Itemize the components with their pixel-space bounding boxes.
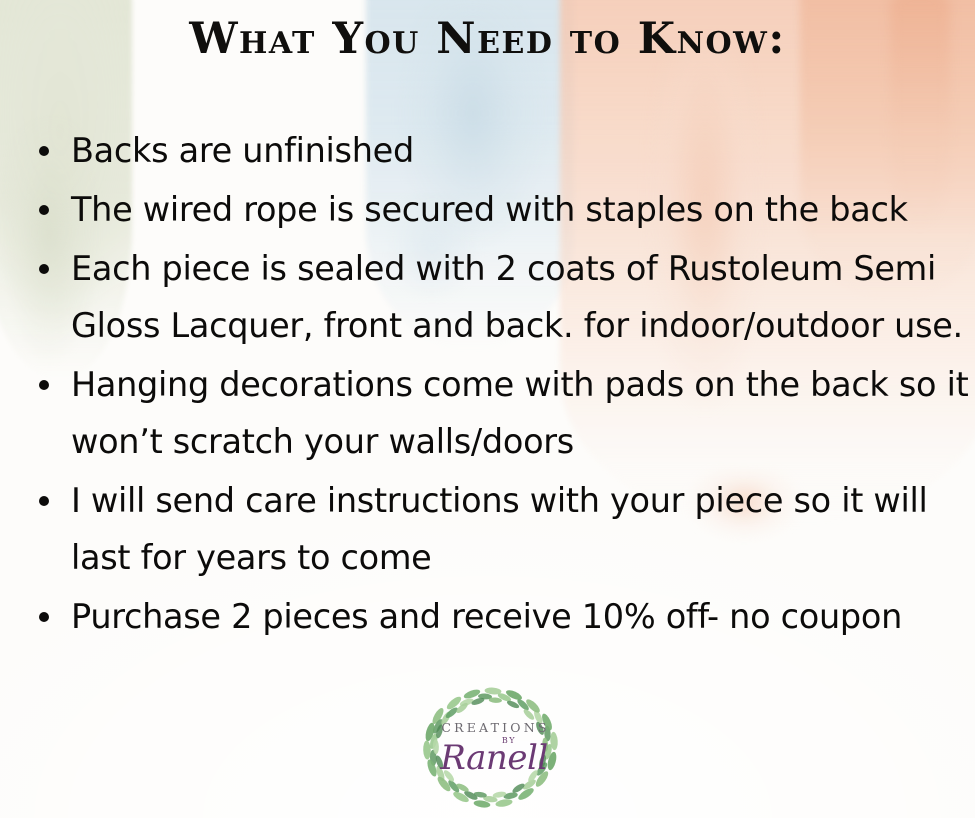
brand-logo: CREATIONS BY Ranell (408, 676, 580, 818)
list-item: Backs are unfinished (34, 122, 974, 179)
laurel-wreath-icon (408, 676, 580, 818)
list-item: Purchase 2 pieces and receive 10% off- n… (34, 588, 974, 645)
list-item: I will send care instructions with your … (34, 472, 974, 586)
list-item: Hanging decorations come with pads on th… (34, 356, 974, 470)
page-title: What You Need to Know: (0, 14, 975, 64)
list-item: The wired rope is secured with staples o… (34, 181, 974, 238)
info-bullet-list: Backs are unfinished The wired rope is s… (34, 122, 974, 647)
poster-canvas: What You Need to Know: Backs are unfinis… (0, 0, 975, 818)
list-item: Each piece is sealed with 2 coats of Rus… (34, 240, 974, 354)
